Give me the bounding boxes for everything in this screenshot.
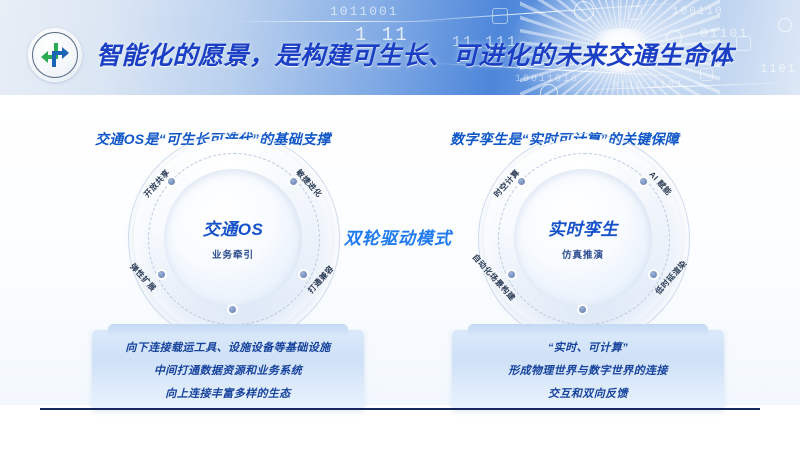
footer-divider xyxy=(40,408,760,410)
panel-line: 中间打通数据资源和业务系统 xyxy=(154,362,302,378)
panel-line: 交互和双向反馈 xyxy=(548,385,628,401)
wheel-node xyxy=(290,178,297,185)
wheel-node xyxy=(158,271,165,278)
panel-line: 向下连接载运工具、设施设备等基础设施 xyxy=(125,339,330,355)
panel-line: “实时、可计算” xyxy=(548,339,628,355)
right-summary-panel: “实时、可计算” 形成物理世界与数字世界的连接 交互和双向反馈 xyxy=(452,330,724,410)
binary-decoration: 1011001 xyxy=(330,4,399,19)
wheel-core-subtitle: 仿真推演 xyxy=(562,247,604,261)
panel-line: 向上连接丰富多样的生态 xyxy=(165,385,290,401)
logo-arrows-icon xyxy=(38,38,72,72)
chip-icon xyxy=(492,8,508,24)
binary-decoration: 0110 1101 xyxy=(612,80,684,91)
wifi-circle-icon xyxy=(574,1,594,21)
wifi-circle-icon xyxy=(778,18,792,32)
binary-decoration: 1101 xyxy=(760,62,797,76)
wheel-node xyxy=(300,271,307,278)
left-summary-panel: 向下连接载运工具、设施设备等基础设施 中间打通数据资源和业务系统 向上连接丰富多… xyxy=(92,330,364,410)
slide-header: 1011001 1 11 11 111 100110 01101 1011 10… xyxy=(0,0,800,95)
left-wheel-diagram: 开放共享 敏捷进化 弹性扩展 打通兼容 交通OS 业务牵引 xyxy=(128,158,338,318)
wheel-core-subtitle: 业务牵引 xyxy=(212,247,254,261)
right-wheel-diagram: 时空计算 AI 赋能 自动化场景构建 低时延渲染 实时孪生 仿真推演 xyxy=(478,158,688,318)
chip-icon xyxy=(628,6,642,20)
wheel-node xyxy=(508,271,515,278)
wheel-core: 实时孪生 仿真推演 xyxy=(514,169,652,307)
panel-line: 形成物理世界与数字世界的连接 xyxy=(508,362,668,378)
wheel-core-title: 实时孪生 xyxy=(548,215,618,240)
wheel-node xyxy=(579,306,586,313)
wheel-core-title: 交通OS xyxy=(203,215,264,240)
wheel-node xyxy=(518,178,525,185)
wheel-node xyxy=(229,306,236,313)
wifi-circle-icon xyxy=(540,84,558,95)
slide-root: 1011001 1 11 11 111 100110 01101 1011 10… xyxy=(0,0,800,452)
organization-logo xyxy=(29,29,81,81)
page-title: 智能化的愿景，是构建可生长、可进化的未来交通生命体 xyxy=(96,30,734,78)
chip-icon xyxy=(736,36,751,51)
wheel-node xyxy=(650,271,657,278)
wheel-node xyxy=(640,178,647,185)
wheel-node xyxy=(168,178,175,185)
center-tag: 双轮驱动模式 xyxy=(344,224,452,249)
wheel-core: 交通OS 业务牵引 xyxy=(164,169,302,307)
binary-decoration: 100110 xyxy=(672,6,724,18)
